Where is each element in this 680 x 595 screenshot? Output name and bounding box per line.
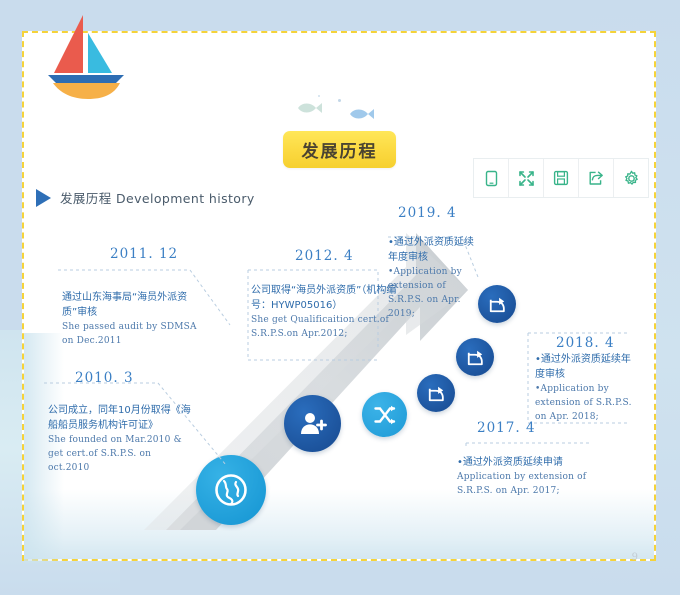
mobile-icon[interactable] [474,159,509,197]
page-number: 9 [632,552,638,563]
milestone-en-2018: •Application by extension of S.R.P.S. on… [535,382,639,424]
milestone-text-2018: •通过外派资质延续年度审核 •Application by extension … [535,352,639,424]
expand-icon[interactable] [509,159,544,197]
milestone-cn-2017: •通过外派资质延续申请 [457,455,587,470]
milestone-text-2017: •通过外派资质延续申请 Application by extension of … [457,455,587,498]
fish-icon [348,107,374,121]
milestone-en-2012: She get Qualificaition cert.of S.R.P.S.o… [251,313,403,341]
year-label-2010: 2010. 3 [75,370,134,386]
year-label-2019: 2019. 4 [398,205,457,221]
section-heading: 发展历程 Development history [36,188,255,207]
milestone-text-2011: 通过山东海事局“海员外派资质”审核 She passed audit by SD… [62,290,207,348]
milestone-text-2010: 公司成立，同年10月份取得《海船船员服务机构许可证》 She founded o… [48,403,195,475]
milestone-text-2012: 公司取得“海员外派资质”（机构编号：HYWP05016） She get Qua… [251,283,403,341]
milestone-cn-2019: •通过外派资质延续年度审核 [388,235,480,265]
milestone-cn-2018: •通过外派资质延续年度审核 [535,352,639,382]
sailboat-icon [44,11,130,106]
milestone-en-2019: •Application by extension of S.R.P.S. on… [388,265,480,321]
milestone-en-2010: She founded on Mar.2010 & get cert.of S.… [48,433,195,475]
page-title: 发展历程 [283,131,396,168]
slide-canvas: 发展历程 发展历程 Development history [0,0,680,595]
play-triangle-icon [36,189,51,207]
year-label-2011: 2011. 12 [110,246,178,262]
milestone-cn-2012: 公司取得“海员外派资质”（机构编号：HYWP05016） [251,283,403,313]
milestone-en-2017: Application by extension of S.R.P.S. on … [457,470,587,498]
section-heading-text: 发展历程 Development history [60,188,255,207]
year-label-2017: 2017. 4 [477,420,536,436]
share-icon[interactable] [579,159,614,197]
milestone-cn-2011: 通过山东海事局“海员外派资质”审核 [62,290,207,320]
milestone-cn-2010: 公司成立，同年10月份取得《海船船员服务机构许可证》 [48,403,195,433]
milestone-en-2011: She passed audit by SDMSA on Dec.2011 [62,320,207,348]
slide-toolbar[interactable] [473,158,649,198]
bubble-dot [338,99,341,102]
page-title-text: 发展历程 [302,137,378,162]
save-icon[interactable] [544,159,579,197]
milestone-text-2019: •通过外派资质延续年度审核 •Application by extension … [388,235,480,321]
year-label-2018: 2018. 4 [556,335,615,351]
bubble-dot [318,95,320,97]
gear-icon[interactable] [614,159,648,197]
fish-icon [296,101,322,115]
year-label-2012: 2012. 4 [295,248,354,264]
